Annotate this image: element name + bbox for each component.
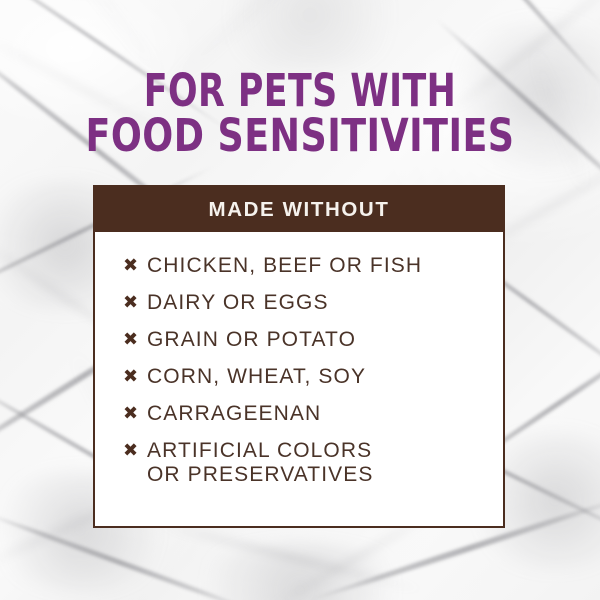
x-mark-icon: ✖ [123, 291, 147, 314]
x-mark-icon: ✖ [123, 365, 147, 388]
list-item: ✖ ARTIFICIAL COLORS OR PRESERVATIVES [95, 439, 503, 487]
list-item: ✖ CHICKEN, BEEF OR FISH [95, 254, 503, 278]
x-mark-icon: ✖ [123, 439, 147, 462]
x-mark-icon: ✖ [123, 254, 147, 277]
list-item-label: ARTIFICIAL COLORS OR PRESERVATIVES [147, 439, 374, 487]
x-mark-icon: ✖ [123, 402, 147, 425]
list-item-label: DAIRY OR EGGS [147, 291, 329, 315]
list-item-label: GRAIN OR POTATO [147, 328, 356, 352]
marble-blotch [200, 0, 420, 70]
page-title-line-1: FOR PETS WITH [42, 68, 558, 113]
list-item: ✖ GRAIN OR POTATO [95, 328, 503, 352]
list-item: ✖ CARRAGEENAN [95, 402, 503, 426]
list-item-label: CORN, WHEAT, SOY [147, 365, 366, 389]
list-item: ✖ DAIRY OR EGGS [95, 291, 503, 315]
page-title-line-2: FOOD SENSITIVITIES [30, 113, 570, 158]
card-body: ✖ CHICKEN, BEEF OR FISH ✖ DAIRY OR EGGS … [95, 232, 503, 487]
card-header-title: MADE WITHOUT [209, 198, 390, 222]
made-without-card: MADE WITHOUT ✖ CHICKEN, BEEF OR FISH ✖ D… [93, 185, 505, 528]
poster-canvas: FOR PETS WITH FOOD SENSITIVITIES MADE WI… [0, 0, 600, 600]
x-mark-icon: ✖ [123, 328, 147, 351]
page-title: FOR PETS WITH FOOD SENSITIVITIES [0, 68, 600, 158]
list-item-label: CHICKEN, BEEF OR FISH [147, 254, 422, 278]
list-item-label: CARRAGEENAN [147, 402, 321, 426]
list-item: ✖ CORN, WHEAT, SOY [95, 365, 503, 389]
card-header: MADE WITHOUT [95, 187, 503, 232]
exclusion-list: ✖ CHICKEN, BEEF OR FISH ✖ DAIRY OR EGGS … [95, 254, 503, 487]
